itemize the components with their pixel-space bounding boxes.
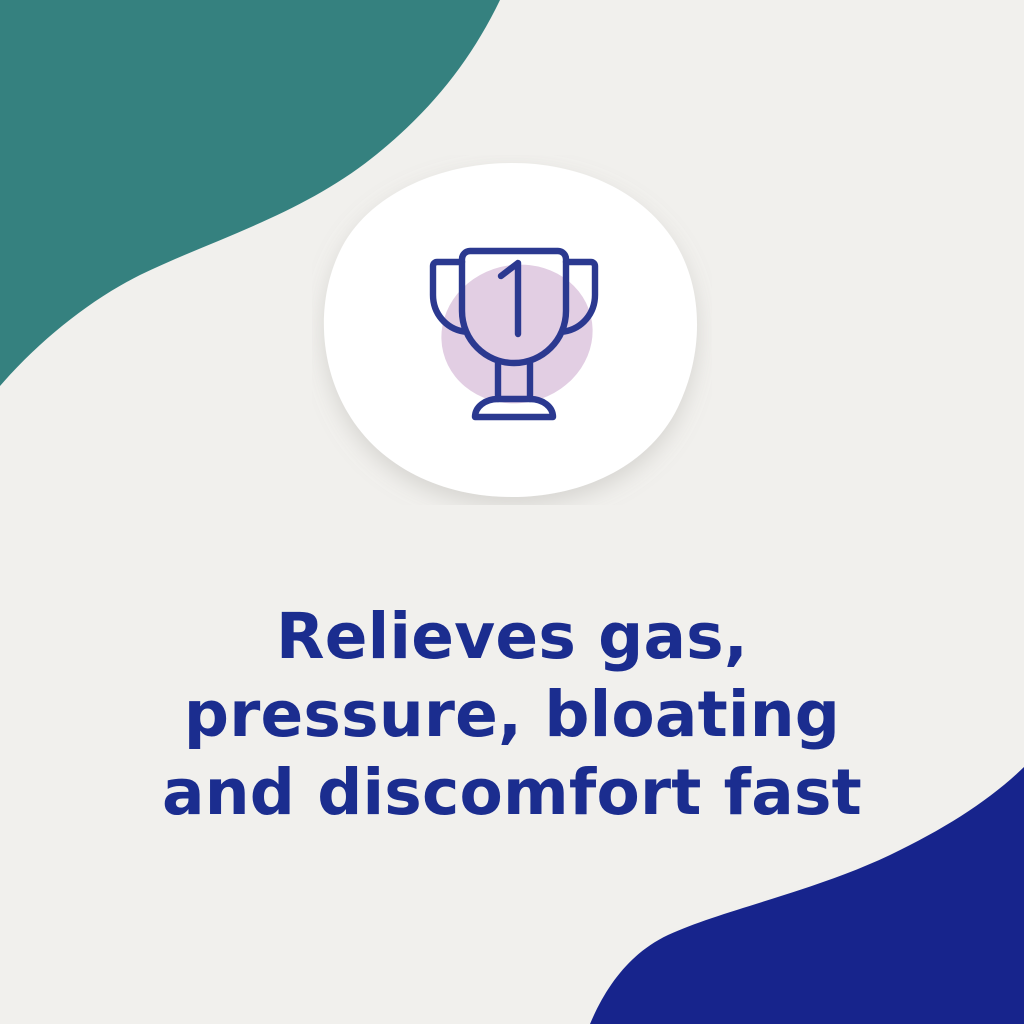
headline-line-3: and discomfort fast bbox=[0, 754, 1024, 832]
bottom-right-wave-shape bbox=[0, 0, 1024, 1024]
trophy-base bbox=[475, 399, 553, 417]
trophy-icon bbox=[399, 227, 629, 437]
top-left-wave-shape bbox=[0, 0, 1024, 1024]
page-title: Relieves gas, pressure, bloating and dis… bbox=[0, 598, 1024, 832]
badge-icon-container bbox=[312, 155, 712, 505]
trophy-badge bbox=[312, 155, 712, 505]
headline-line-1: Relieves gas, bbox=[0, 598, 1024, 676]
headline-line-2: pressure, bloating bbox=[0, 676, 1024, 754]
promo-card: Relieves gas, pressure, bloating and dis… bbox=[0, 0, 1024, 1024]
